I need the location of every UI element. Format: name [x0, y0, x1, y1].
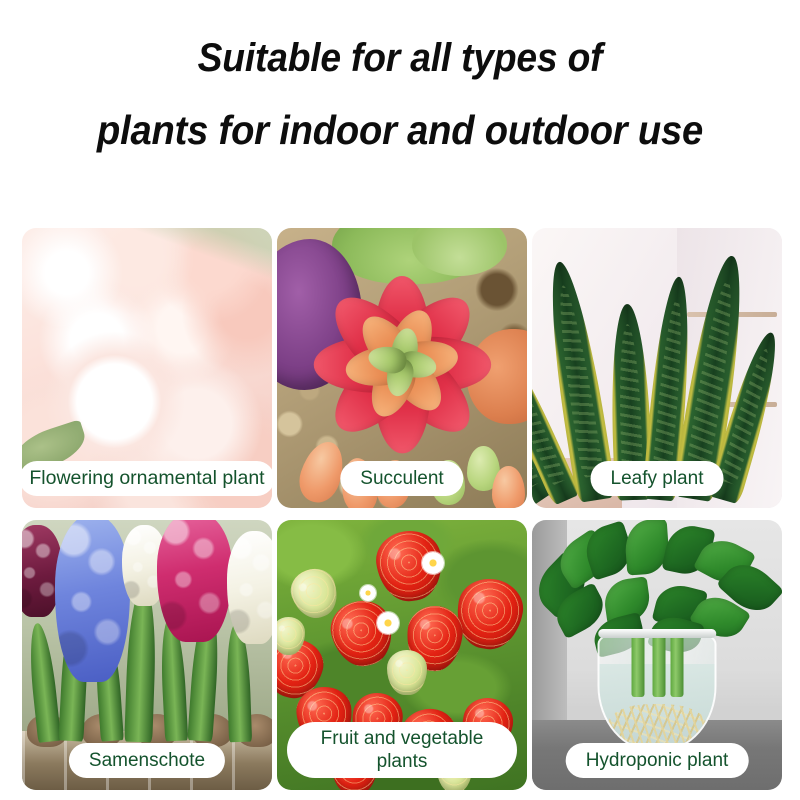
plant-card-caption: Flowering ornamental plant	[19, 461, 274, 496]
hyacinth-bloom	[157, 520, 232, 642]
page-title-line-1: Suitable for all types of	[28, 22, 772, 94]
plant-card-caption: Samenschote	[69, 743, 225, 778]
plant-card-flowering-ornamental-plant[interactable]: Flowering ornamental plant	[22, 228, 272, 508]
plant-card-caption: Fruit and vegetable plants	[287, 722, 517, 778]
bamboo-stem	[671, 632, 684, 697]
plant-card-caption: Hydroponic plant	[566, 743, 749, 778]
bamboo-stem	[652, 632, 665, 697]
bamboo-stem	[632, 632, 645, 697]
plant-card-hydroponic-plant[interactable]: Hydroponic plant	[532, 520, 782, 790]
plant-card-fruit-and-vegetable-plants[interactable]: Fruit and vegetable plants	[277, 520, 527, 790]
strawberry-blossom	[377, 612, 399, 634]
glass-vase	[598, 632, 717, 752]
vase-rim	[598, 629, 716, 638]
plant-card-samenschote[interactable]: Samenschote	[22, 520, 272, 790]
hyacinth-bloom	[227, 531, 272, 644]
hyacinth-bloom	[55, 520, 130, 682]
plant-card-caption: Leafy plant	[591, 461, 724, 496]
strawberry-blossom	[360, 585, 376, 601]
plant-card-leafy-plant[interactable]: Leafy plant	[532, 228, 782, 508]
plant-type-grid: Flowering ornamental plant	[22, 228, 782, 790]
page-title: Suitable for all types of plants for ind…	[28, 22, 772, 166]
plant-card-caption: Succulent	[340, 461, 463, 496]
plant-card-succulent[interactable]: Succulent	[277, 228, 527, 508]
page-title-line-2: plants for indoor and outdoor use	[28, 94, 772, 166]
